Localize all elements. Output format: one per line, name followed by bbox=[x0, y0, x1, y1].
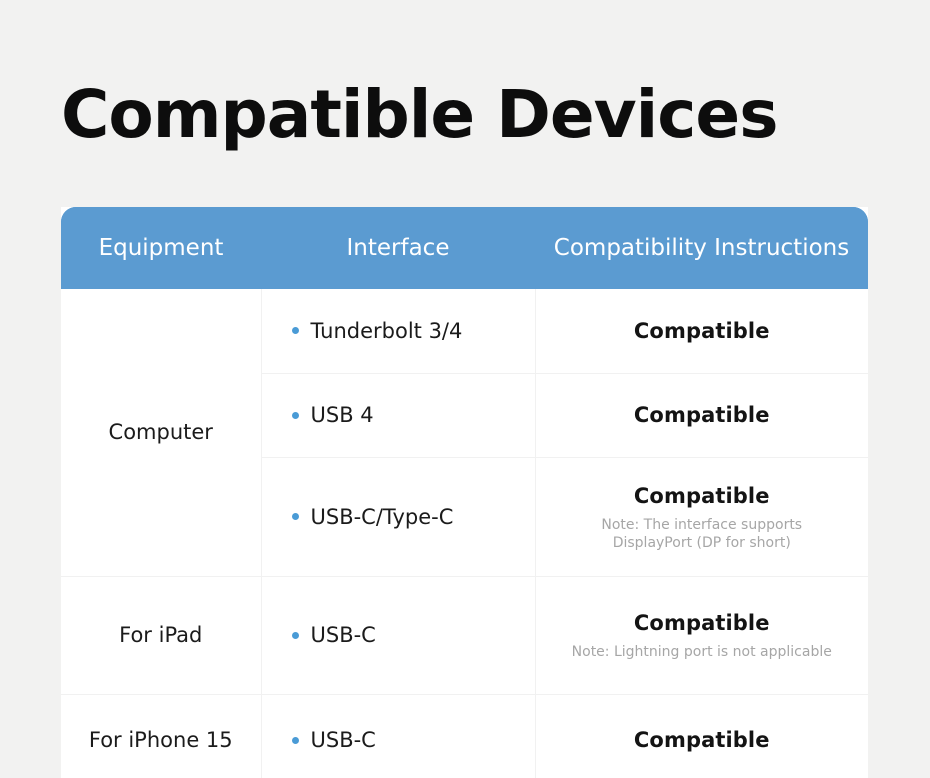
table-header-row: Equipment Interface Compatibility Instru… bbox=[61, 207, 868, 289]
equipment-label-computer: Computer bbox=[61, 289, 261, 576]
column-header-interface: Interface bbox=[261, 207, 535, 289]
interface-label: Tunderbolt 3/4 bbox=[311, 317, 463, 345]
table-row: For iPad USB-C Compatible Note: Lightnin… bbox=[61, 576, 868, 694]
page-title: Compatible Devices bbox=[61, 72, 777, 158]
compatible-devices-page: Compatible Devices Equipment Interface C… bbox=[0, 0, 930, 778]
equipment-label-iphone: For iPhone 15 bbox=[61, 694, 261, 778]
interface-label: USB-C/Type-C bbox=[311, 503, 454, 531]
interface-label: USB-C bbox=[311, 621, 376, 649]
compatibility-cell: Compatible bbox=[535, 694, 868, 778]
compatibility-table-wrapper: Equipment Interface Compatibility Instru… bbox=[61, 207, 868, 778]
interface-cell: Tunderbolt 3/4 bbox=[261, 289, 535, 373]
bullet-icon bbox=[292, 412, 299, 419]
compatibility-cell: Compatible Note: The interface supports … bbox=[535, 457, 868, 576]
interface-cell: USB 4 bbox=[261, 373, 535, 457]
compatibility-status: Compatible bbox=[544, 609, 861, 637]
column-header-compatibility: Compatibility Instructions bbox=[535, 207, 868, 289]
compatibility-cell: Compatible Note: Lightning port is not a… bbox=[535, 576, 868, 694]
compatibility-table: Equipment Interface Compatibility Instru… bbox=[61, 207, 868, 778]
interface-label: USB-C bbox=[311, 726, 376, 754]
table-row: Computer Tunderbolt 3/4 Compatible bbox=[61, 289, 868, 373]
bullet-icon bbox=[292, 513, 299, 520]
column-header-equipment: Equipment bbox=[61, 207, 261, 289]
compatibility-cell: Compatible bbox=[535, 289, 868, 373]
compatibility-note: Note: The interface supports DisplayPort… bbox=[587, 516, 817, 552]
interface-cell: USB-C bbox=[261, 694, 535, 778]
compatibility-status: Compatible bbox=[544, 317, 861, 345]
compatibility-status: Compatible bbox=[544, 482, 861, 510]
interface-cell: USB-C bbox=[261, 576, 535, 694]
interface-label: USB 4 bbox=[311, 401, 374, 429]
bullet-icon bbox=[292, 632, 299, 639]
bullet-icon bbox=[292, 737, 299, 744]
compatibility-status: Compatible bbox=[544, 401, 861, 429]
equipment-label-ipad: For iPad bbox=[61, 576, 261, 694]
compatibility-cell: Compatible bbox=[535, 373, 868, 457]
compatibility-note: Note: Lightning port is not applicable bbox=[552, 643, 852, 661]
interface-cell: USB-C/Type-C bbox=[261, 457, 535, 576]
table-body: Computer Tunderbolt 3/4 Compatible bbox=[61, 289, 868, 778]
table-row: For iPhone 15 USB-C Compatible bbox=[61, 694, 868, 778]
compatibility-status: Compatible bbox=[544, 726, 861, 754]
bullet-icon bbox=[292, 327, 299, 334]
table-header: Equipment Interface Compatibility Instru… bbox=[61, 207, 868, 289]
